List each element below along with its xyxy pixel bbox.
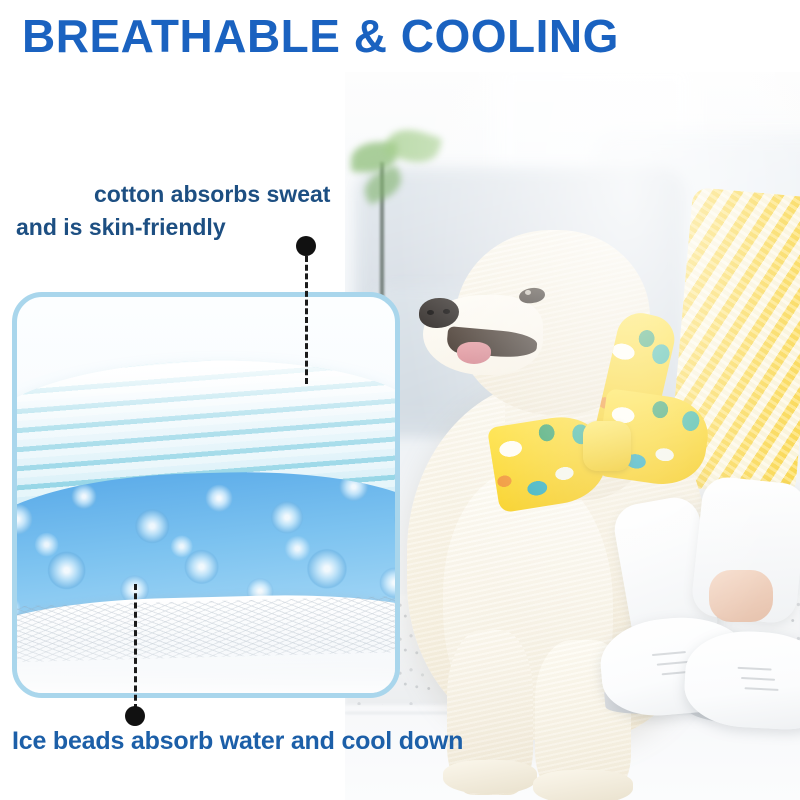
callout-cotton: cotton absorbs sweat and is skin-friendl…	[16, 178, 416, 243]
callout-ice-beads: Ice beads absorb water and cool down	[12, 727, 463, 756]
person-legs	[589, 510, 800, 770]
bandana-bow	[493, 385, 703, 505]
product-infographic: BREATHABLE & COOLING cotton absorbs swea…	[0, 0, 800, 800]
dog-tongue	[457, 342, 491, 364]
bow-knot	[583, 421, 631, 471]
dog-paw-left	[443, 760, 537, 794]
callout-cotton-line2: and is skin-friendly	[16, 211, 416, 244]
leader-line-bottom	[134, 584, 137, 710]
inset-bottom-glow	[17, 643, 395, 693]
leader-dot-bottom	[125, 706, 145, 726]
dog-eye-highlight	[525, 290, 531, 295]
cooling-mat-cross-section	[12, 292, 400, 698]
leader-line-top	[305, 256, 308, 384]
callout-cotton-line1: cotton absorbs sweat	[16, 178, 416, 211]
page-title: BREATHABLE & COOLING	[22, 12, 619, 60]
ankle	[709, 570, 773, 622]
dog-paw-right	[533, 770, 633, 800]
